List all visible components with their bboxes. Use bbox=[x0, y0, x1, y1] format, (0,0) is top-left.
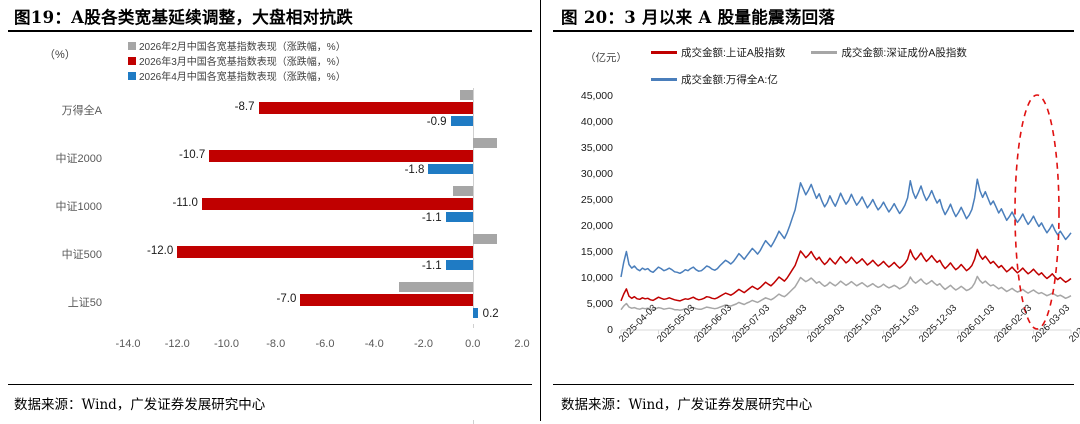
bar-value-label: -11.0 bbox=[166, 197, 198, 209]
bar-chart-plot-area: 万得全A-8.7-0.9中证2000-10.7-1.8中证1000-11.0-1… bbox=[0, 88, 540, 336]
bar-value-label: -1.1 bbox=[410, 212, 442, 224]
bar-x-tick-label: -14.0 bbox=[115, 338, 140, 350]
figure-20-source-rule bbox=[553, 384, 1074, 385]
bar-category-label: 中证500 bbox=[10, 246, 102, 262]
bar-category-label: 中证2000 bbox=[10, 150, 102, 166]
bar-segment bbox=[259, 102, 473, 114]
legend-item-apr: 2026年4月中国各宽基指数表现（涨跌幅，%） bbox=[128, 68, 346, 83]
bar-x-tick-label: -4.0 bbox=[365, 338, 384, 350]
bar-value-label: -0.9 bbox=[415, 116, 447, 128]
bar-chart-legend: 2026年2月中国各宽基指数表现（涨跌幅，%） 2026年3月中国各宽基指数表现… bbox=[128, 38, 346, 83]
bar-segment bbox=[209, 150, 472, 162]
bar-segment bbox=[451, 116, 473, 126]
bar-chart-category-row: 中证500-12.0-1.1 bbox=[0, 232, 540, 280]
figure-20-source: 数据来源：Wind，广发证券发展研究中心 bbox=[561, 393, 812, 413]
bar-x-tick-label: 2.0 bbox=[514, 338, 529, 350]
bar-x-tick-label: 0.0 bbox=[465, 338, 480, 350]
figure-19-title-rule bbox=[8, 30, 532, 32]
figure-19-title: 图19：A股各类宽基延续调整，大盘相对抗跌 bbox=[14, 4, 530, 28]
bar-value-label: -8.7 bbox=[223, 101, 255, 113]
bar-segment bbox=[202, 198, 473, 210]
bar-category-label: 万得全A bbox=[10, 102, 102, 118]
legend-item-feb: 2026年2月中国各宽基指数表现（涨跌幅，%） bbox=[128, 38, 346, 53]
figure-20-panel: 图 20：3 月以来 A 股量能震荡回落 （亿元） 成交金额:上证A股指数 成交… bbox=[540, 0, 1080, 421]
bar-chart-category-row: 上证50-7.00.2 bbox=[0, 280, 540, 328]
bar-value-label: 0.2 bbox=[483, 308, 499, 320]
bar-x-tick-label: -6.0 bbox=[316, 338, 335, 350]
bar-segment bbox=[460, 90, 472, 100]
bar-chart-x-axis: -14.0-12.0-10.0-8.0-6.0-4.0-2.00.02.0 bbox=[0, 336, 540, 356]
legend-label-apr: 2026年4月中国各宽基指数表现（涨跌幅，%） bbox=[139, 68, 346, 83]
bar-value-label: -12.0 bbox=[141, 245, 173, 257]
line-chart-plot-area: 05,00010,00015,00020,00025,00030,00035,0… bbox=[541, 0, 1080, 421]
legend-swatch-blue-icon bbox=[128, 72, 136, 80]
bar-segment bbox=[177, 246, 473, 258]
bar-x-tick-label: -12.0 bbox=[165, 338, 190, 350]
bar-chart-unit-label: （%） bbox=[44, 46, 76, 62]
line-series-path bbox=[621, 249, 1071, 301]
figure-pair-container: 图19：A股各类宽基延续调整，大盘相对抗跌 （%） 2026年2月中国各宽基指数… bbox=[0, 0, 1080, 421]
bar-x-tick-label: -2.0 bbox=[414, 338, 433, 350]
bar-value-label: -7.0 bbox=[264, 293, 296, 305]
bar-segment bbox=[300, 294, 472, 306]
bar-chart-category-row: 中证2000-10.7-1.8 bbox=[0, 136, 540, 184]
bar-x-tick-label: -10.0 bbox=[214, 338, 239, 350]
bar-segment bbox=[428, 164, 472, 174]
bar-segment bbox=[446, 260, 473, 270]
bar-category-label: 中证1000 bbox=[10, 198, 102, 214]
figure-19-source: 数据来源：Wind，广发证券发展研究中心 bbox=[14, 393, 265, 413]
bar-segment bbox=[473, 308, 478, 318]
figure-19-panel: 图19：A股各类宽基延续调整，大盘相对抗跌 （%） 2026年2月中国各宽基指数… bbox=[0, 0, 540, 421]
bar-segment bbox=[473, 138, 498, 148]
legend-label-feb: 2026年2月中国各宽基指数表现（涨跌幅，%） bbox=[139, 38, 346, 53]
highlight-ellipse-annotation bbox=[1015, 95, 1059, 329]
bar-value-label: -10.7 bbox=[173, 149, 205, 161]
bar-chart-category-row: 中证1000-11.0-1.1 bbox=[0, 184, 540, 232]
line-chart-svg bbox=[541, 0, 1080, 421]
figure-19-source-rule bbox=[8, 384, 532, 385]
legend-item-mar: 2026年3月中国各宽基指数表现（涨跌幅，%） bbox=[128, 53, 346, 68]
bar-segment bbox=[399, 282, 473, 292]
bar-segment bbox=[446, 212, 473, 222]
bar-value-label: -1.8 bbox=[392, 164, 424, 176]
bar-category-label: 上证50 bbox=[10, 294, 102, 310]
bar-chart-category-row: 万得全A-8.7-0.9 bbox=[0, 88, 540, 136]
legend-swatch-gray-icon bbox=[128, 42, 136, 50]
bar-segment bbox=[473, 234, 498, 244]
bar-x-tick-label: -8.0 bbox=[266, 338, 285, 350]
bar-value-label: -1.1 bbox=[410, 260, 442, 272]
legend-swatch-red-icon bbox=[128, 57, 136, 65]
bar-segment bbox=[453, 186, 473, 196]
legend-label-mar: 2026年3月中国各宽基指数表现（涨跌幅，%） bbox=[139, 53, 346, 68]
